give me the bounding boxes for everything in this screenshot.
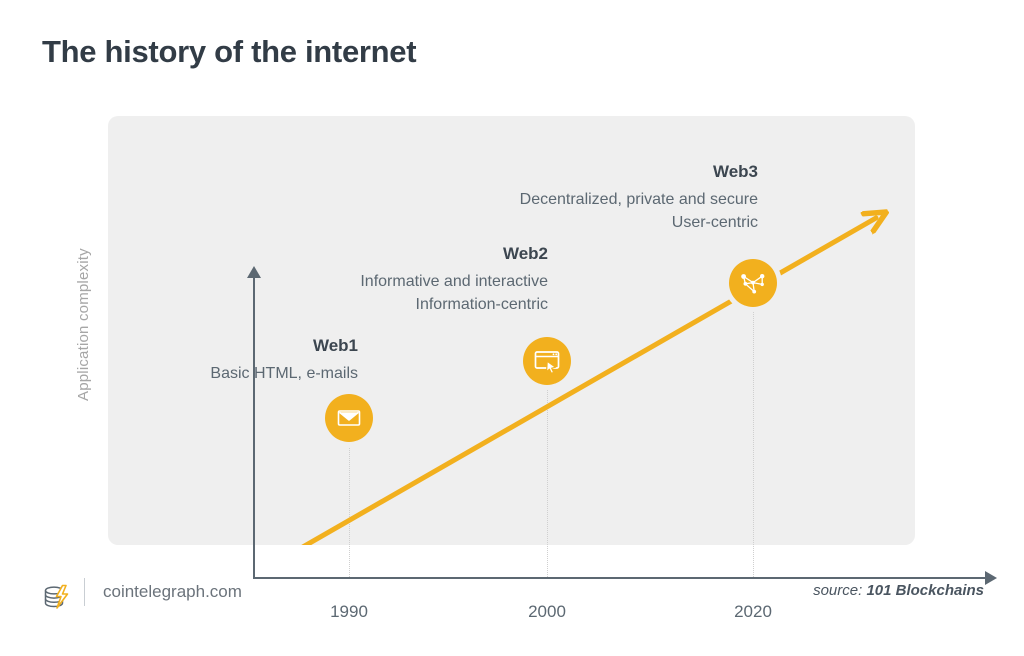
- milestone-desc-web1-line1: Basic HTML, e-mails: [108, 362, 358, 385]
- milestone-node-web3[interactable]: [729, 259, 777, 307]
- drop-line-web1: [349, 441, 351, 577]
- source-name: 101 Blockchains: [866, 582, 984, 599]
- y-axis: [253, 276, 255, 579]
- y-axis-label: Application complexity: [75, 248, 92, 401]
- network-nodes-icon: [739, 269, 767, 297]
- milestone-node-web2[interactable]: [523, 337, 571, 385]
- milestone-desc-web2-line1: Informative and interactive: [208, 270, 548, 293]
- chart-panel: Application complexity: [108, 116, 915, 545]
- envelope-icon: [336, 405, 362, 431]
- milestone-desc-web3-line2: User-centric: [348, 211, 758, 234]
- milestone-title-web3: Web3: [348, 162, 758, 182]
- milestone-title-web2: Web2: [208, 244, 548, 264]
- drop-line-web3: [753, 306, 755, 577]
- cointelegraph-logo-icon: [42, 582, 74, 617]
- source-prefix: source:: [813, 582, 866, 599]
- page-title: The history of the internet: [42, 34, 416, 70]
- milestone-title-web1: Web1: [108, 336, 358, 356]
- milestone-label-web2: Web2 Informative and interactive Informa…: [208, 244, 548, 316]
- milestone-desc-web2-line2: Information-centric: [208, 293, 548, 316]
- footer-divider: [84, 578, 85, 606]
- brand-name[interactable]: cointelegraph.com: [103, 582, 242, 602]
- milestone-node-web1[interactable]: [325, 394, 373, 442]
- footer: cointelegraph.com source: 101 Blockchain…: [0, 570, 1024, 630]
- milestone-label-web1: Web1 Basic HTML, e-mails: [108, 336, 358, 385]
- source-credit: source: 101 Blockchains: [813, 582, 984, 599]
- milestone-desc-web3-line1: Decentralized, private and secure: [348, 188, 758, 211]
- browser-window-cursor-icon: [533, 347, 561, 375]
- drop-line-web2: [547, 384, 549, 577]
- milestone-label-web3: Web3 Decentralized, private and secure U…: [348, 162, 758, 234]
